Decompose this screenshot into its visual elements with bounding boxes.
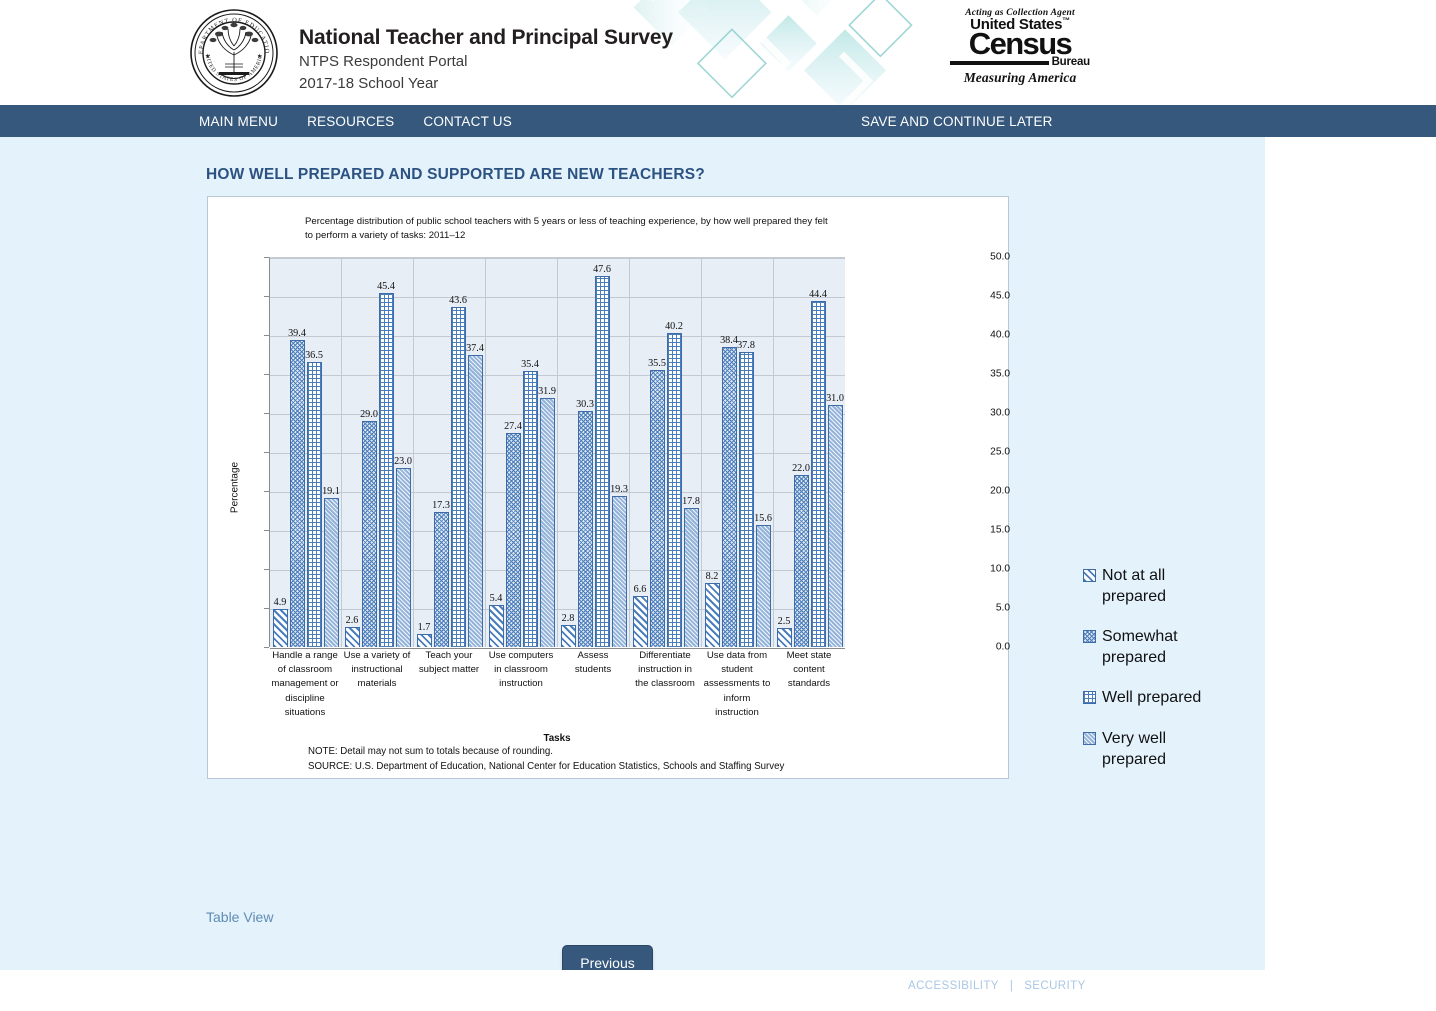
bar-value-label: 2.8 xyxy=(562,613,575,624)
bar: 35.4 xyxy=(523,371,538,647)
site-header: DEPARTMENT OF EDUCATION UNITED STATES OF… xyxy=(0,0,1436,105)
bar: 47.6 xyxy=(595,276,610,647)
bar: 19.3 xyxy=(612,496,627,647)
y-axis-tick-label: 45.0 xyxy=(964,291,1010,302)
y-axis-tick-mark xyxy=(264,647,269,648)
bar: 5.4 xyxy=(489,605,504,647)
bar-value-label: 17.8 xyxy=(682,496,700,507)
bar-value-label: 35.5 xyxy=(648,358,666,369)
bar: 39.4 xyxy=(290,340,305,647)
bar: 2.6 xyxy=(345,627,360,647)
department-of-education-seal-icon: DEPARTMENT OF EDUCATION UNITED STATES OF… xyxy=(189,8,279,98)
bar-value-label: 19.1 xyxy=(322,486,340,497)
nav-left-group: MAIN MENU RESOURCES CONTACT US xyxy=(199,105,512,137)
legend-label: Not at all prepared xyxy=(1102,565,1213,607)
bar-value-label: 29.0 xyxy=(360,409,378,420)
bar-value-label: 4.9 xyxy=(274,597,287,608)
bar-value-label: 6.6 xyxy=(634,584,647,595)
nav-save-and-continue-later[interactable]: SAVE AND CONTINUE LATER xyxy=(861,114,1053,129)
bar-group: 6.635.540.217.8 xyxy=(630,258,702,647)
plot-area: 4.939.436.519.12.629.045.423.01.717.343.… xyxy=(269,257,845,647)
bar-value-label: 2.5 xyxy=(778,616,791,627)
bar-value-label: 17.3 xyxy=(432,500,450,511)
census-rule xyxy=(950,61,1049,65)
legend-swatch-icon xyxy=(1083,630,1096,643)
bar: 2.8 xyxy=(561,625,576,647)
bar: 40.2 xyxy=(667,333,682,647)
footer-accessibility-link[interactable]: ACCESSIBILITY xyxy=(908,980,999,992)
bar: 45.4 xyxy=(379,293,394,647)
bar-value-label: 22.0 xyxy=(792,463,810,474)
y-axis-tick-label: 25.0 xyxy=(964,447,1010,458)
bar-value-label: 37.8 xyxy=(737,340,755,351)
bar: 27.4 xyxy=(506,433,521,647)
svg-text:★: ★ xyxy=(205,53,210,60)
site-subtitle-school-year: 2017-18 School Year xyxy=(299,74,673,94)
bar-group: 2.629.045.423.0 xyxy=(342,258,414,647)
bar: 17.8 xyxy=(684,508,699,647)
bar-value-label: 39.4 xyxy=(288,328,306,339)
bar-group: 2.522.044.431.0 xyxy=(774,258,845,647)
bar-value-label: 31.0 xyxy=(826,393,844,404)
y-axis-tick-label: 15.0 xyxy=(964,525,1010,536)
chart-source: SOURCE: U.S. Department of Education, Na… xyxy=(308,760,784,775)
nav-right-group: SAVE AND CONTINUE LATER xyxy=(861,105,1053,137)
legend-item: Very well prepared xyxy=(1083,728,1213,770)
bar: 17.3 xyxy=(434,512,449,647)
x-axis-category-label: Assess students xyxy=(557,649,629,720)
legend-swatch-icon xyxy=(1083,691,1096,704)
x-axis-category-label: Differentiate instruction in the classro… xyxy=(629,649,701,720)
bar-value-label: 30.3 xyxy=(576,399,594,410)
footer-security-link[interactable]: SECURITY xyxy=(1024,980,1085,992)
y-axis-tick-label: 10.0 xyxy=(964,564,1010,575)
bar-value-label: 19.3 xyxy=(610,484,628,495)
bar-value-label: 8.2 xyxy=(706,571,719,582)
census-bureau-logo: Acting as Collection Agent United States… xyxy=(950,8,1090,96)
bar-value-label: 38.4 xyxy=(720,335,738,346)
bar: 35.5 xyxy=(650,370,665,647)
nav-contact-us[interactable]: CONTACT US xyxy=(423,114,512,129)
bar: 43.6 xyxy=(451,307,466,647)
chart-plot-wrapper: Percentage 0.05.010.015.020.025.030.035.… xyxy=(208,197,1010,780)
bar-value-label: 35.4 xyxy=(521,359,539,370)
bar-value-label: 31.9 xyxy=(538,386,556,397)
bar: 37.8 xyxy=(739,352,754,647)
legend-item: Not at all prepared xyxy=(1083,565,1213,607)
bar-value-label: 27.4 xyxy=(504,421,522,432)
bar: 22.0 xyxy=(794,475,809,647)
footer-separator: | xyxy=(1010,980,1013,992)
legend-label: Very well prepared xyxy=(1102,728,1213,770)
y-axis-tick-label: 30.0 xyxy=(964,408,1010,419)
footer-links: ACCESSIBILITY | SECURITY xyxy=(908,980,1086,992)
bar: 23.0 xyxy=(396,468,411,647)
bar-group: 4.939.436.519.1 xyxy=(270,258,342,647)
bar-value-label: 5.4 xyxy=(490,593,503,604)
census-tagline: Measuring America xyxy=(950,70,1090,86)
bar: 30.3 xyxy=(578,411,593,647)
chart-notes: NOTE: Detail may not sum to totals becau… xyxy=(308,745,784,774)
bar-value-label: 47.6 xyxy=(593,264,611,275)
x-axis-category-label: Meet state content standards xyxy=(773,649,845,720)
bar: 1.7 xyxy=(417,634,432,647)
bar: 15.6 xyxy=(756,525,771,647)
x-axis-category-labels: Handle a range of classroom management o… xyxy=(269,649,845,720)
bar-group: 2.830.347.619.3 xyxy=(558,258,630,647)
legend-label: Somewhat prepared xyxy=(1102,626,1213,668)
site-footer: ACCESSIBILITY | SECURITY xyxy=(0,970,1436,1011)
bar-value-label: 44.4 xyxy=(809,289,827,300)
page-title: HOW WELL PREPARED AND SUPPORTED ARE NEW … xyxy=(206,166,705,184)
bar: 8.2 xyxy=(705,583,720,647)
y-axis-tick-label: 20.0 xyxy=(964,486,1010,497)
bar: 6.6 xyxy=(633,596,648,647)
x-axis-category-label: Use data from student assessments to inf… xyxy=(701,649,773,720)
bar-group: 1.717.343.637.4 xyxy=(414,258,486,647)
bar-value-label: 1.7 xyxy=(418,622,431,633)
x-axis-title: Tasks xyxy=(269,733,845,744)
site-subtitle-portal: NTPS Respondent Portal xyxy=(299,52,673,72)
bar-groups: 4.939.436.519.12.629.045.423.01.717.343.… xyxy=(270,258,845,647)
bar-value-label: 43.6 xyxy=(449,295,467,306)
chart-panel: Percentage distribution of public school… xyxy=(207,196,1009,779)
x-axis-category-label: Handle a range of classroom management o… xyxy=(269,649,341,720)
main-navigation-bar: MAIN MENU RESOURCES CONTACT US SAVE AND … xyxy=(0,105,1436,137)
svg-text:★: ★ xyxy=(257,53,262,60)
y-axis-tick-label: 0.0 xyxy=(964,642,1010,653)
bar: 29.0 xyxy=(362,421,377,647)
bar: 2.5 xyxy=(777,628,792,648)
x-axis-category-label: Use a variety of instructional materials xyxy=(341,649,413,720)
bar: 31.9 xyxy=(540,398,555,647)
census-bureau-text: Bureau xyxy=(1052,56,1090,68)
bar-value-label: 45.4 xyxy=(377,281,395,292)
table-view-link[interactable]: Table View xyxy=(206,909,273,925)
y-axis-title: Percentage xyxy=(230,428,241,548)
bar-group: 8.238.437.815.6 xyxy=(702,258,774,647)
y-axis-tick-label: 5.0 xyxy=(964,603,1010,614)
bar: 19.1 xyxy=(324,498,339,647)
site-title: National Teacher and Principal Survey xyxy=(299,26,673,50)
nav-main-menu[interactable]: MAIN MENU xyxy=(199,114,278,129)
bar: 31.0 xyxy=(828,405,843,647)
bar: 44.4 xyxy=(811,301,826,647)
legend-label: Well prepared xyxy=(1102,687,1201,708)
x-axis-category-label: Use computers in classroom instruction xyxy=(485,649,557,720)
bar-value-label: 2.6 xyxy=(346,615,359,626)
bar: 4.9 xyxy=(273,609,288,647)
chart-note: NOTE: Detail may not sum to totals becau… xyxy=(308,745,784,760)
census-wordmark: Census xyxy=(950,31,1090,58)
bar: 37.4 xyxy=(468,355,483,647)
legend-item: Somewhat prepared xyxy=(1083,626,1213,668)
bar-value-label: 37.4 xyxy=(466,343,484,354)
nav-resources[interactable]: RESOURCES xyxy=(307,114,394,129)
content-area: HOW WELL PREPARED AND SUPPORTED ARE NEW … xyxy=(0,137,1265,970)
legend-swatch-icon xyxy=(1083,569,1096,582)
bar-group: 5.427.435.431.9 xyxy=(486,258,558,647)
x-axis-category-label: Teach your subject matter xyxy=(413,649,485,720)
y-axis-tick-label: 40.0 xyxy=(964,330,1010,341)
y-axis-tick-label: 35.0 xyxy=(964,369,1010,380)
legend-swatch-icon xyxy=(1083,732,1096,745)
legend-item: Well prepared xyxy=(1083,687,1213,708)
bar: 36.5 xyxy=(307,362,322,647)
header-title-block: National Teacher and Principal Survey NT… xyxy=(299,26,673,94)
bar: 38.4 xyxy=(722,347,737,647)
bar-value-label: 36.5 xyxy=(305,350,323,361)
bar-value-label: 15.6 xyxy=(754,513,772,524)
chart-legend: Not at all preparedSomewhat preparedWell… xyxy=(1083,565,1213,789)
bar-value-label: 23.0 xyxy=(394,456,412,467)
bar-value-label: 40.2 xyxy=(665,321,683,332)
y-axis-tick-label: 50.0 xyxy=(964,252,1010,263)
